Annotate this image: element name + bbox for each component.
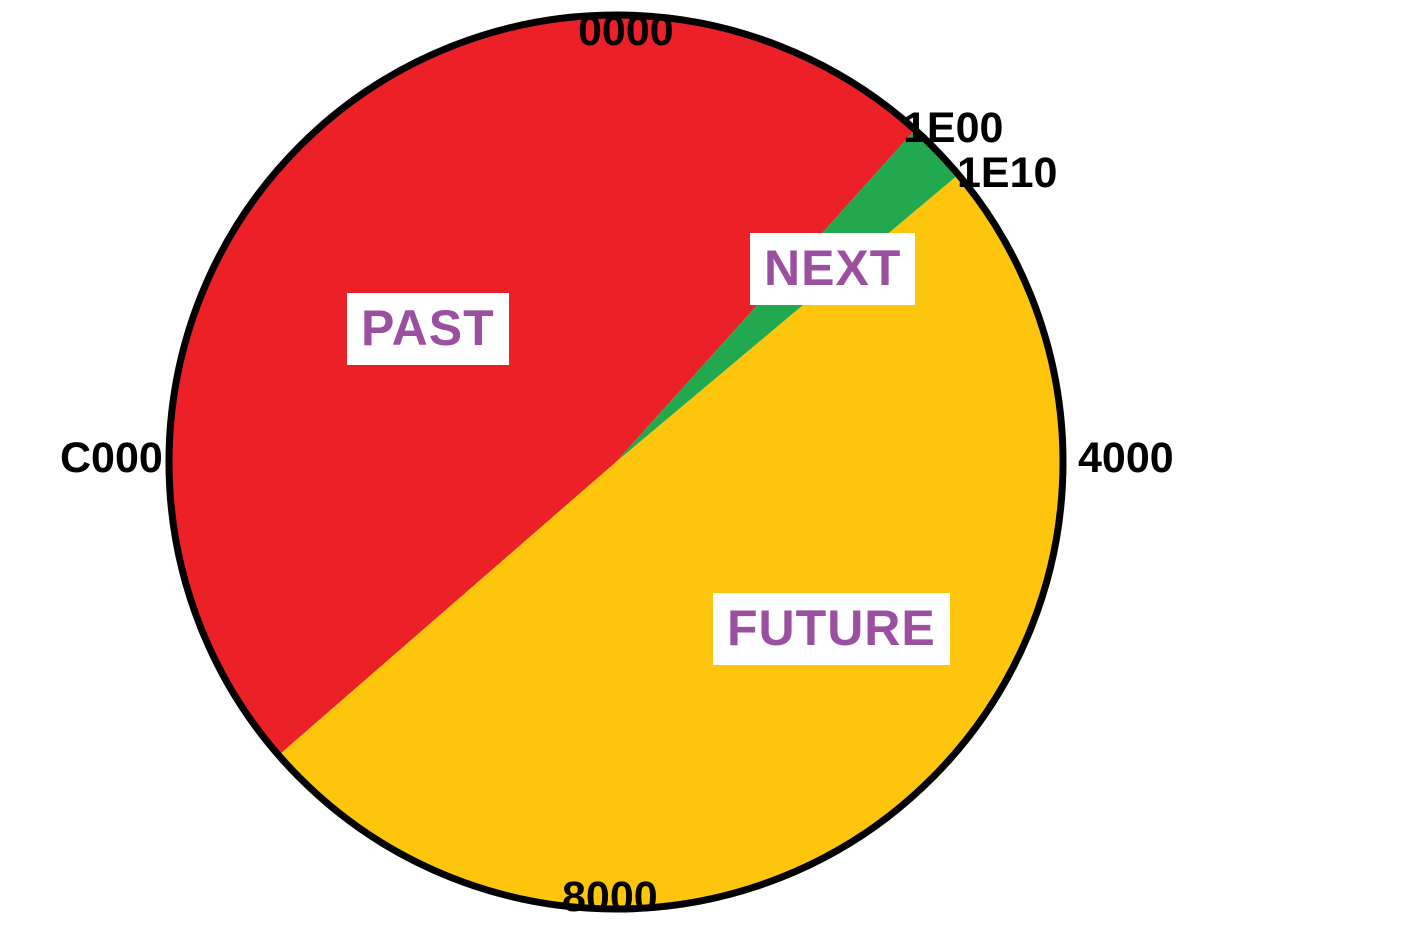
tick-label-1E10: 1E10 — [957, 152, 1057, 195]
tick-label-8000: 8000 — [562, 876, 658, 919]
diagram-canvas: 0000 1E00 1E10 4000 8000 C000 PAST NEXT … — [0, 0, 1404, 949]
sequence-number-wheel — [0, 0, 1404, 949]
tick-label-C000: C000 — [60, 437, 163, 480]
region-label-future: FUTURE — [713, 593, 950, 665]
region-label-next: NEXT — [750, 233, 915, 305]
tick-label-4000: 4000 — [1078, 437, 1174, 480]
region-label-past: PAST — [347, 293, 509, 365]
tick-label-0000: 0000 — [578, 10, 674, 53]
tick-label-1E00: 1E00 — [903, 107, 1003, 150]
